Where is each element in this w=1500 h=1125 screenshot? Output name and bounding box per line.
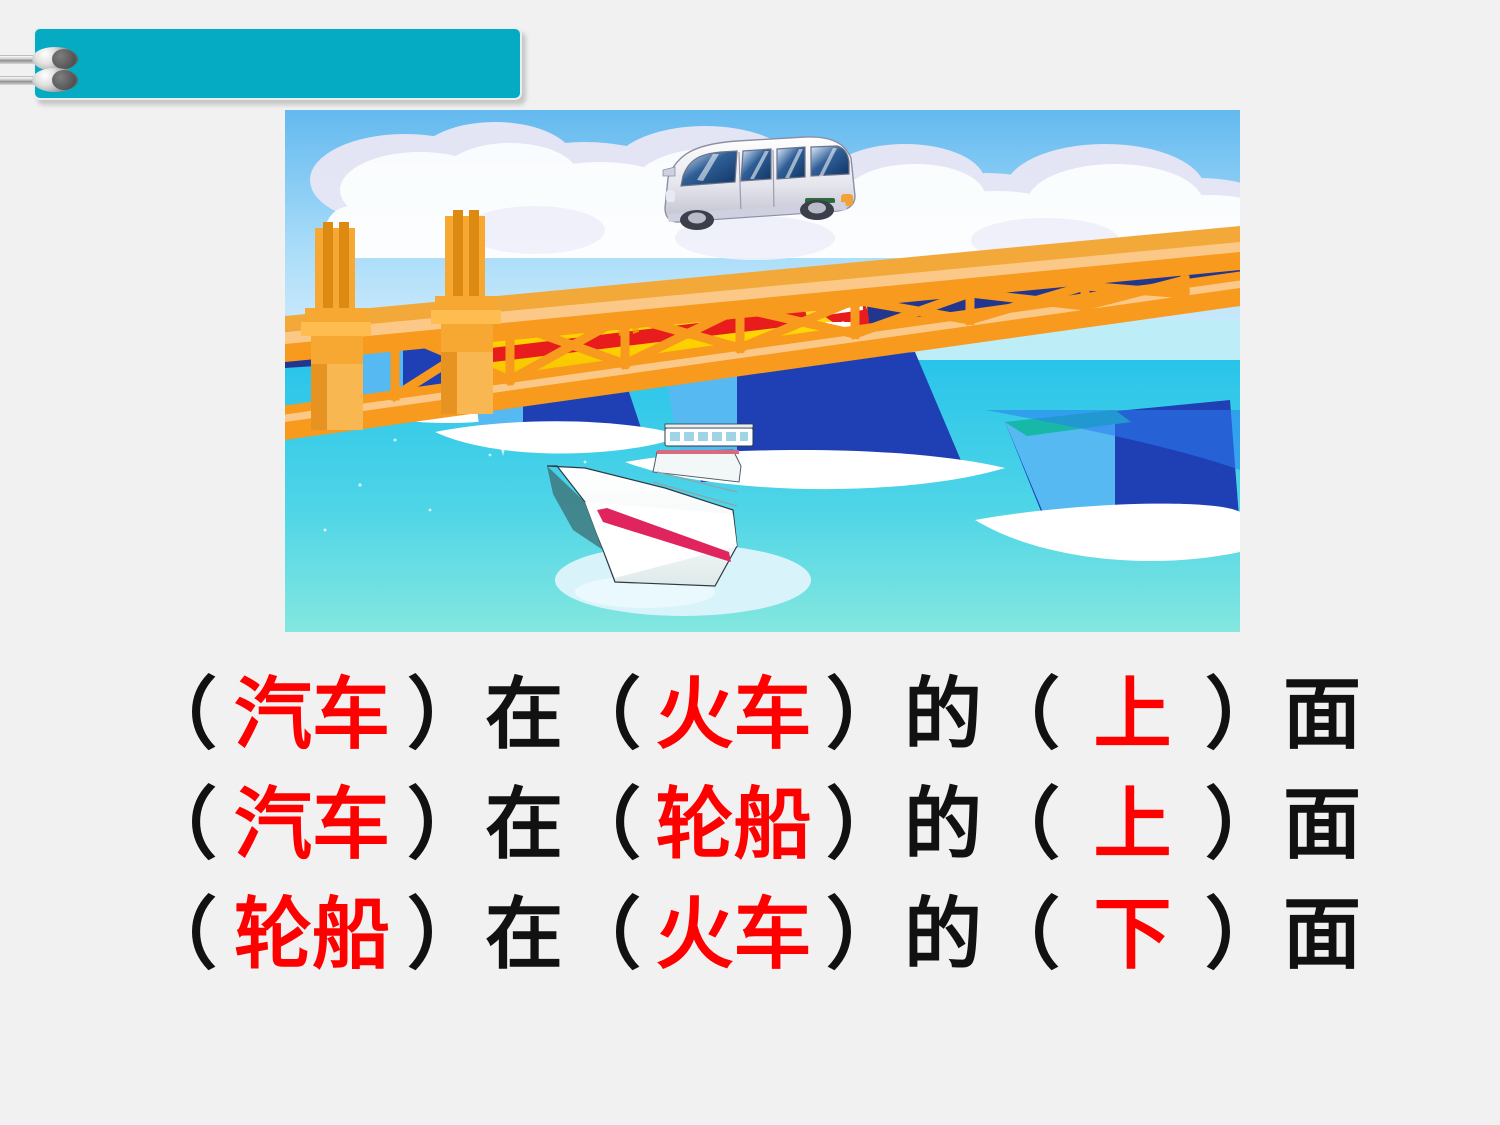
answer-blank-1-2[interactable]: 火车 (641, 660, 826, 770)
connector-3-2: ）的（ (826, 880, 1060, 990)
bridge-illustration (285, 110, 1240, 632)
suffix-3: ）面 (1205, 880, 1361, 990)
sentence-line-3: （ 轮船 ）在（ 火车 ）的（ 下 ）面 (0, 880, 1500, 990)
connector-2-2: ）的（ (826, 770, 1060, 880)
scene-svg (285, 110, 1240, 632)
answer-blank-1-1[interactable]: 汽车 (217, 660, 407, 770)
answer-lines: （ 汽车 ）在（ 火车 ）的（ 上 ）面 （ 汽车 ）在（ 轮船 ）的（ 上 ）… (0, 660, 1500, 990)
answer-blank-2-1[interactable]: 汽车 (217, 770, 407, 880)
minivan (663, 137, 855, 230)
connector-1-1: ）在（ (407, 660, 641, 770)
answer-blank-3-2[interactable]: 火车 (641, 880, 826, 990)
answer-blank-3-3[interactable]: 下 (1060, 880, 1205, 990)
sentence-line-1: （ 汽车 ）在（ 火车 ）的（ 上 ）面 (0, 660, 1500, 770)
answer-blank-3-1[interactable]: 轮船 (217, 880, 407, 990)
paren-open-2: （ (139, 770, 217, 880)
banner-box (33, 27, 522, 100)
title-banner (33, 27, 522, 100)
connector-2-1: ）在（ (407, 770, 641, 880)
paren-open-1: （ (139, 660, 217, 770)
connector-3-1: ）在（ (407, 880, 641, 990)
suffix-1: ）面 (1205, 660, 1361, 770)
pin-bottom-icon (0, 68, 78, 92)
paren-open-3: （ (139, 880, 217, 990)
answer-blank-2-3[interactable]: 上 (1060, 770, 1205, 880)
answer-blank-1-3[interactable]: 上 (1060, 660, 1205, 770)
sentence-line-2: （ 汽车 ）在（ 轮船 ）的（ 上 ）面 (0, 770, 1500, 880)
suffix-2: ）面 (1205, 770, 1361, 880)
connector-1-2: ）的（ (826, 660, 1060, 770)
answer-blank-2-2[interactable]: 轮船 (641, 770, 826, 880)
